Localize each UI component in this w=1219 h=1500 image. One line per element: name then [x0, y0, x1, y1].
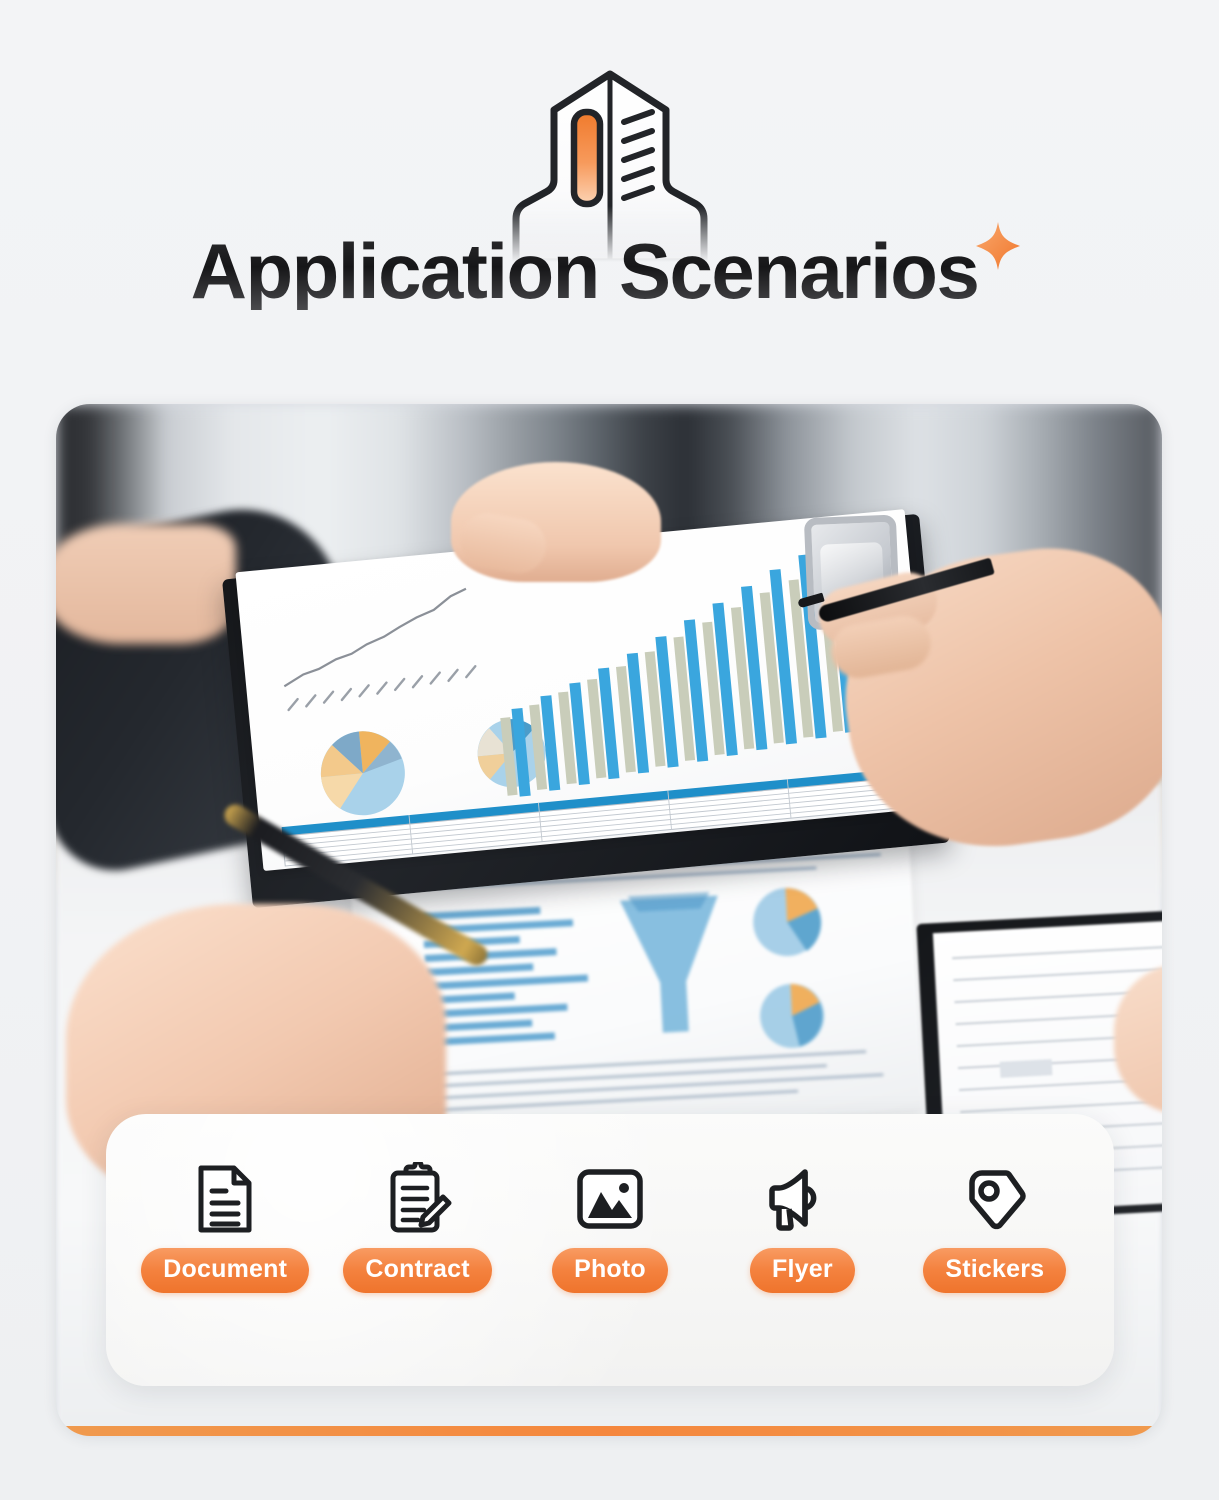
sparkle-star-icon — [968, 216, 1028, 281]
feature-photo[interactable]: Photo — [525, 1160, 695, 1293]
page-title: Application Scenarios — [191, 232, 979, 310]
report-line-chart — [277, 589, 478, 711]
page-header: Application Scenarios — [0, 0, 1219, 390]
feature-label-flyer[interactable]: Flyer — [750, 1248, 855, 1293]
feature-label-document[interactable]: Document — [141, 1248, 309, 1293]
feature-stickers[interactable]: Stickers — [910, 1160, 1080, 1293]
clipboard-pencil-icon — [384, 1160, 452, 1238]
left-arm — [56, 524, 236, 644]
scenario-photo: Document — [56, 404, 1162, 1436]
document-icon — [193, 1160, 257, 1238]
feature-label-photo[interactable]: Photo — [552, 1248, 668, 1293]
title-row: Application Scenarios — [0, 232, 1219, 310]
feature-label-stickers[interactable]: Stickers — [923, 1248, 1066, 1293]
megaphone-icon — [765, 1160, 839, 1238]
feature-flyer[interactable]: Flyer — [717, 1160, 887, 1293]
report-pie-chart-1 — [317, 728, 409, 820]
image-icon — [574, 1160, 646, 1238]
feature-document[interactable]: Document — [140, 1160, 310, 1293]
price-tag-icon — [960, 1160, 1030, 1238]
feature-list: Document — [106, 1160, 1114, 1293]
feature-card: Document — [106, 1114, 1114, 1386]
feature-label-contract[interactable]: Contract — [343, 1248, 491, 1293]
feature-contract[interactable]: Contract — [332, 1160, 502, 1293]
application-scenarios-page: Application Scenarios — [0, 0, 1219, 1500]
